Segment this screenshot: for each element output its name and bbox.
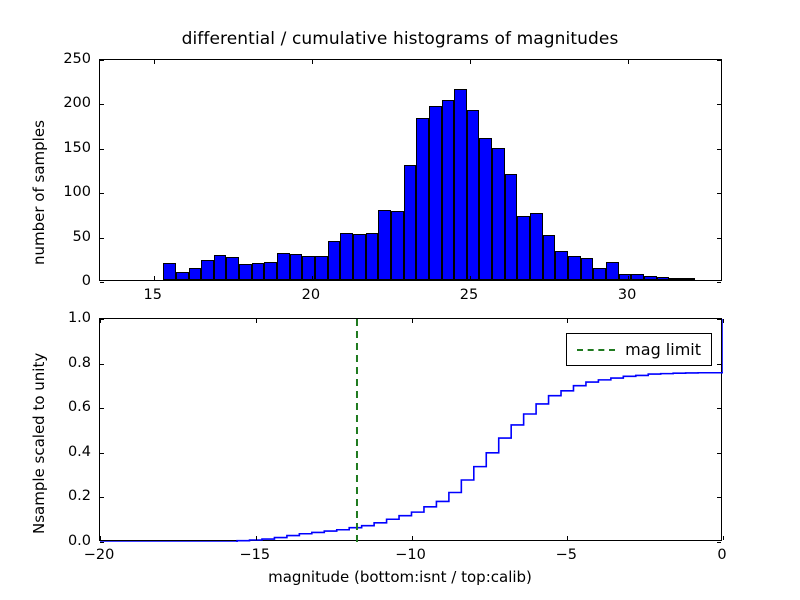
y-tick-mark	[717, 364, 721, 365]
histogram-bar	[290, 254, 303, 280]
y-tick-mark	[100, 497, 104, 498]
histogram-bar	[454, 89, 467, 280]
y-tick-mark	[100, 364, 104, 365]
y-tick-mark	[717, 104, 721, 105]
x-tick-mark	[567, 319, 568, 323]
histogram-bar	[543, 235, 556, 280]
histogram-bar	[492, 148, 505, 280]
x-tick-mark	[312, 60, 313, 64]
histogram-bar	[226, 257, 239, 280]
y-tick-mark	[100, 408, 104, 409]
histogram-bar	[669, 278, 682, 280]
y-tick-mark	[100, 542, 104, 543]
y-tick-label: 1.0	[0, 310, 91, 326]
x-tick-mark	[723, 319, 724, 323]
histogram-bar	[404, 165, 417, 280]
y-tick-mark	[717, 149, 721, 150]
histogram-bar	[442, 100, 455, 280]
histogram-bar	[315, 256, 328, 280]
histogram-bar	[429, 106, 442, 280]
x-tick-mark	[154, 276, 155, 280]
y-tick-mark	[100, 104, 104, 105]
histogram-bar	[252, 263, 265, 280]
differential-histogram-axes	[99, 59, 722, 281]
x-tick-mark	[723, 536, 724, 540]
histogram-bar	[201, 260, 214, 280]
x-tick-mark	[412, 536, 413, 540]
y-tick-mark	[717, 542, 721, 543]
y-tick-label: 0	[0, 273, 91, 289]
x-tick-mark	[412, 319, 413, 323]
y-tick-mark	[717, 282, 721, 283]
x-tick-mark	[470, 60, 471, 64]
y-tick-mark	[100, 238, 104, 239]
figure-canvas: differential / cumulative histograms of …	[0, 0, 800, 600]
x-tick-mark	[100, 536, 101, 540]
histogram-bar	[264, 262, 277, 280]
histogram-bar	[606, 262, 619, 280]
legend-label-mag-limit: mag limit	[625, 340, 701, 359]
histogram-bar	[657, 277, 670, 280]
y-tick-mark	[717, 497, 721, 498]
histogram-bar	[467, 110, 480, 280]
histogram-bar	[479, 138, 492, 280]
y-tick-mark	[717, 408, 721, 409]
y-tick-mark	[100, 319, 104, 320]
x-tick-mark	[470, 276, 471, 280]
histogram-bar	[644, 276, 657, 280]
x-tick-label: 20	[302, 287, 320, 303]
histogram-bar	[416, 118, 429, 280]
x-tick-label: −20	[84, 547, 115, 563]
x-tick-mark	[256, 536, 257, 540]
top-y-axis-label: number of samples	[30, 120, 48, 265]
y-tick-mark	[100, 149, 104, 150]
y-tick-label: 250	[0, 51, 91, 67]
histogram-bar	[631, 274, 644, 280]
legend[interactable]: mag limit	[566, 333, 712, 366]
histogram-bar	[340, 233, 353, 280]
bottom-x-axis-label: magnitude (bottom:isnt / top:calib)	[268, 568, 532, 586]
cumulative-histogram-axes: mag limit	[99, 318, 722, 541]
x-tick-label: 25	[460, 287, 478, 303]
y-tick-mark	[100, 282, 104, 283]
y-tick-mark	[100, 193, 104, 194]
histogram-bar	[214, 255, 227, 280]
x-tick-label: −5	[556, 547, 577, 563]
x-tick-label: −15	[239, 547, 270, 563]
y-tick-mark	[717, 319, 721, 320]
histogram-bar	[391, 211, 404, 280]
y-tick-mark	[100, 453, 104, 454]
histogram-bar	[581, 258, 594, 280]
histogram-bar	[555, 251, 568, 280]
histogram-bar	[568, 256, 581, 280]
y-tick-mark	[717, 453, 721, 454]
histogram-bar	[619, 274, 632, 280]
histogram-bar	[378, 210, 391, 280]
histogram-bar	[302, 256, 315, 280]
x-tick-mark	[628, 60, 629, 64]
histogram-bar	[593, 268, 606, 280]
histogram-bar	[189, 268, 202, 280]
histogram-bar	[239, 264, 252, 280]
histogram-bar	[505, 174, 518, 280]
histogram-bar	[530, 213, 543, 280]
y-tick-label: 0.0	[0, 533, 91, 549]
histogram-bar	[176, 272, 189, 280]
y-tick-mark	[717, 193, 721, 194]
histogram-bar	[366, 233, 379, 280]
histogram-bar	[682, 278, 695, 280]
x-tick-mark	[312, 276, 313, 280]
histogram-bar	[277, 253, 290, 280]
y-tick-mark	[717, 60, 721, 61]
x-tick-label: 15	[144, 287, 162, 303]
histogram-bar	[517, 216, 530, 280]
chart-title: differential / cumulative histograms of …	[0, 29, 800, 49]
histogram-bar	[163, 263, 176, 280]
mag-limit-legend-swatch-icon	[577, 349, 615, 351]
x-tick-mark	[628, 276, 629, 280]
y-tick-label: 200	[0, 95, 91, 111]
x-tick-mark	[256, 319, 257, 323]
histogram-bar	[328, 241, 341, 280]
y-tick-mark	[717, 238, 721, 239]
x-tick-mark	[154, 60, 155, 64]
x-tick-label: 0	[717, 547, 726, 563]
y-tick-mark	[100, 60, 104, 61]
x-tick-mark	[567, 536, 568, 540]
x-tick-label: 30	[618, 287, 636, 303]
histogram-bar	[353, 234, 366, 280]
histogram-bars	[100, 60, 721, 280]
bottom-y-axis-label: Nsample scaled to unity	[30, 353, 48, 534]
x-tick-label: −10	[395, 547, 426, 563]
